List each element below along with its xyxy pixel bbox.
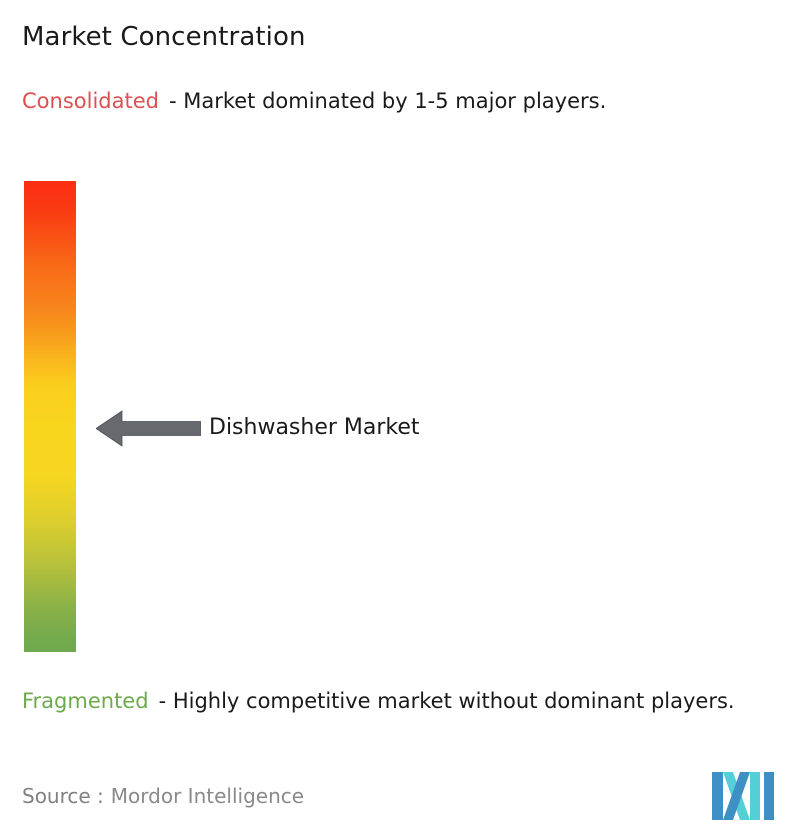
legend-fragmented: Fragmented- Highly competitive market wi… bbox=[22, 687, 782, 716]
source-name: Mordor Intelligence bbox=[104, 784, 304, 808]
concentration-gradient-bar bbox=[24, 181, 76, 652]
source-label: Source : bbox=[22, 784, 104, 808]
page-title: Market Concentration bbox=[22, 21, 306, 53]
market-concentration-chart: Market Concentration Consolidated- Marke… bbox=[0, 0, 796, 834]
legend-term-fragmented: Fragmented bbox=[22, 689, 149, 713]
legend-consolidated: Consolidated- Market dominated by 1-5 ma… bbox=[22, 87, 770, 116]
legend-description-consolidated: - Market dominated by 1-5 major players. bbox=[169, 89, 606, 113]
legend-description-fragmented: - Highly competitive market without domi… bbox=[159, 689, 735, 713]
marker-arrow-left-icon bbox=[96, 410, 201, 447]
source-attribution: Source :Mordor Intelligence bbox=[22, 782, 304, 810]
mordor-intelligence-logo-icon bbox=[712, 772, 774, 820]
marker-label: Dishwasher Market bbox=[209, 414, 420, 442]
legend-term-consolidated: Consolidated bbox=[22, 89, 159, 113]
